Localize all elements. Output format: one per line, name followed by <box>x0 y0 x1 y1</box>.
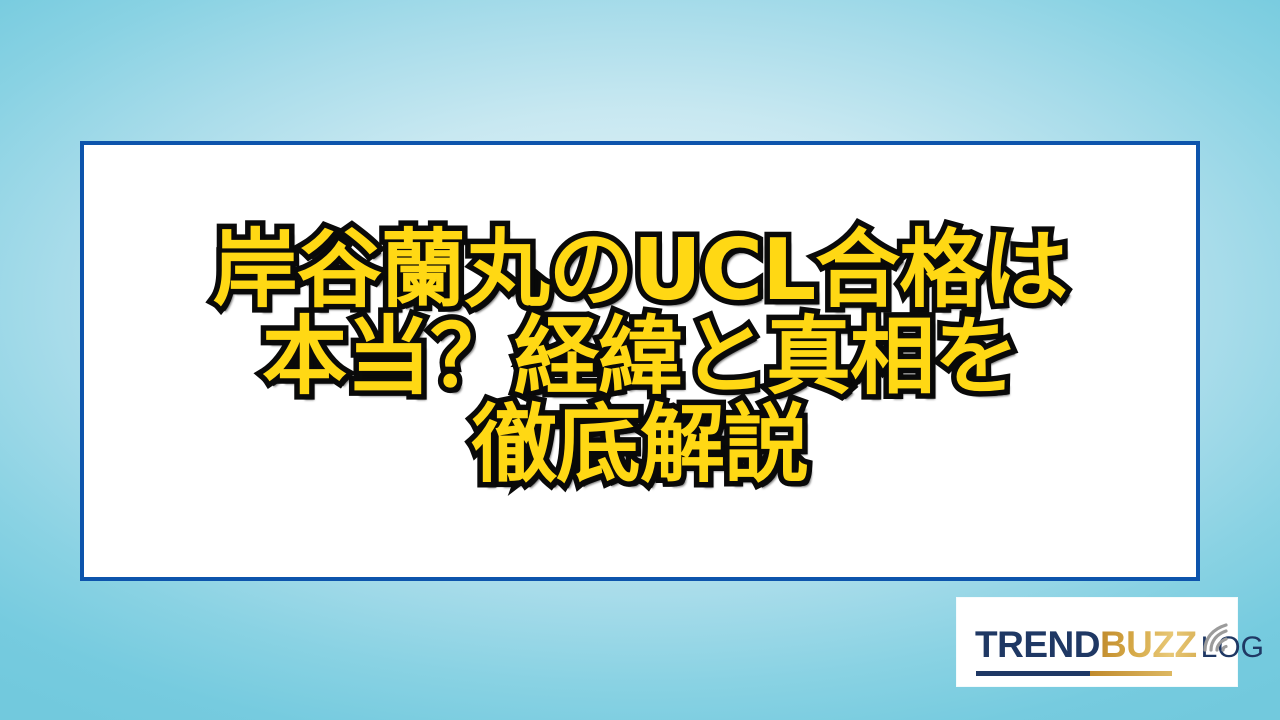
logo-underline-gold-segment <box>1090 671 1172 676</box>
title-line-2: 本当？経緯と真相を <box>84 314 1196 402</box>
logo-inner: TREND BUZZ LOG <box>975 626 1264 663</box>
wifi-signal-icon <box>1199 617 1239 653</box>
logo-underline-navy-segment <box>976 671 1090 676</box>
logo-word-trend: TREND <box>975 626 1100 663</box>
title-card: 岸谷蘭丸のUCL合格は 本当？経緯と真相を 徹底解説 <box>80 141 1200 581</box>
logo-underline <box>976 671 1172 676</box>
logo-badge[interactable]: TREND BUZZ LOG <box>957 598 1237 686</box>
thumbnail-canvas: 岸谷蘭丸のUCL合格は 本当？経緯と真相を 徹底解説 TREND BUZZ LO… <box>0 0 1280 720</box>
title-line-1: 岸谷蘭丸のUCL合格は <box>84 227 1196 315</box>
title-line-3: 徹底解説 <box>84 402 1196 490</box>
logo-word-buzz: BUZZ <box>1100 626 1197 663</box>
title-block: 岸谷蘭丸のUCL合格は 本当？経緯と真相を 徹底解説 <box>84 227 1196 496</box>
